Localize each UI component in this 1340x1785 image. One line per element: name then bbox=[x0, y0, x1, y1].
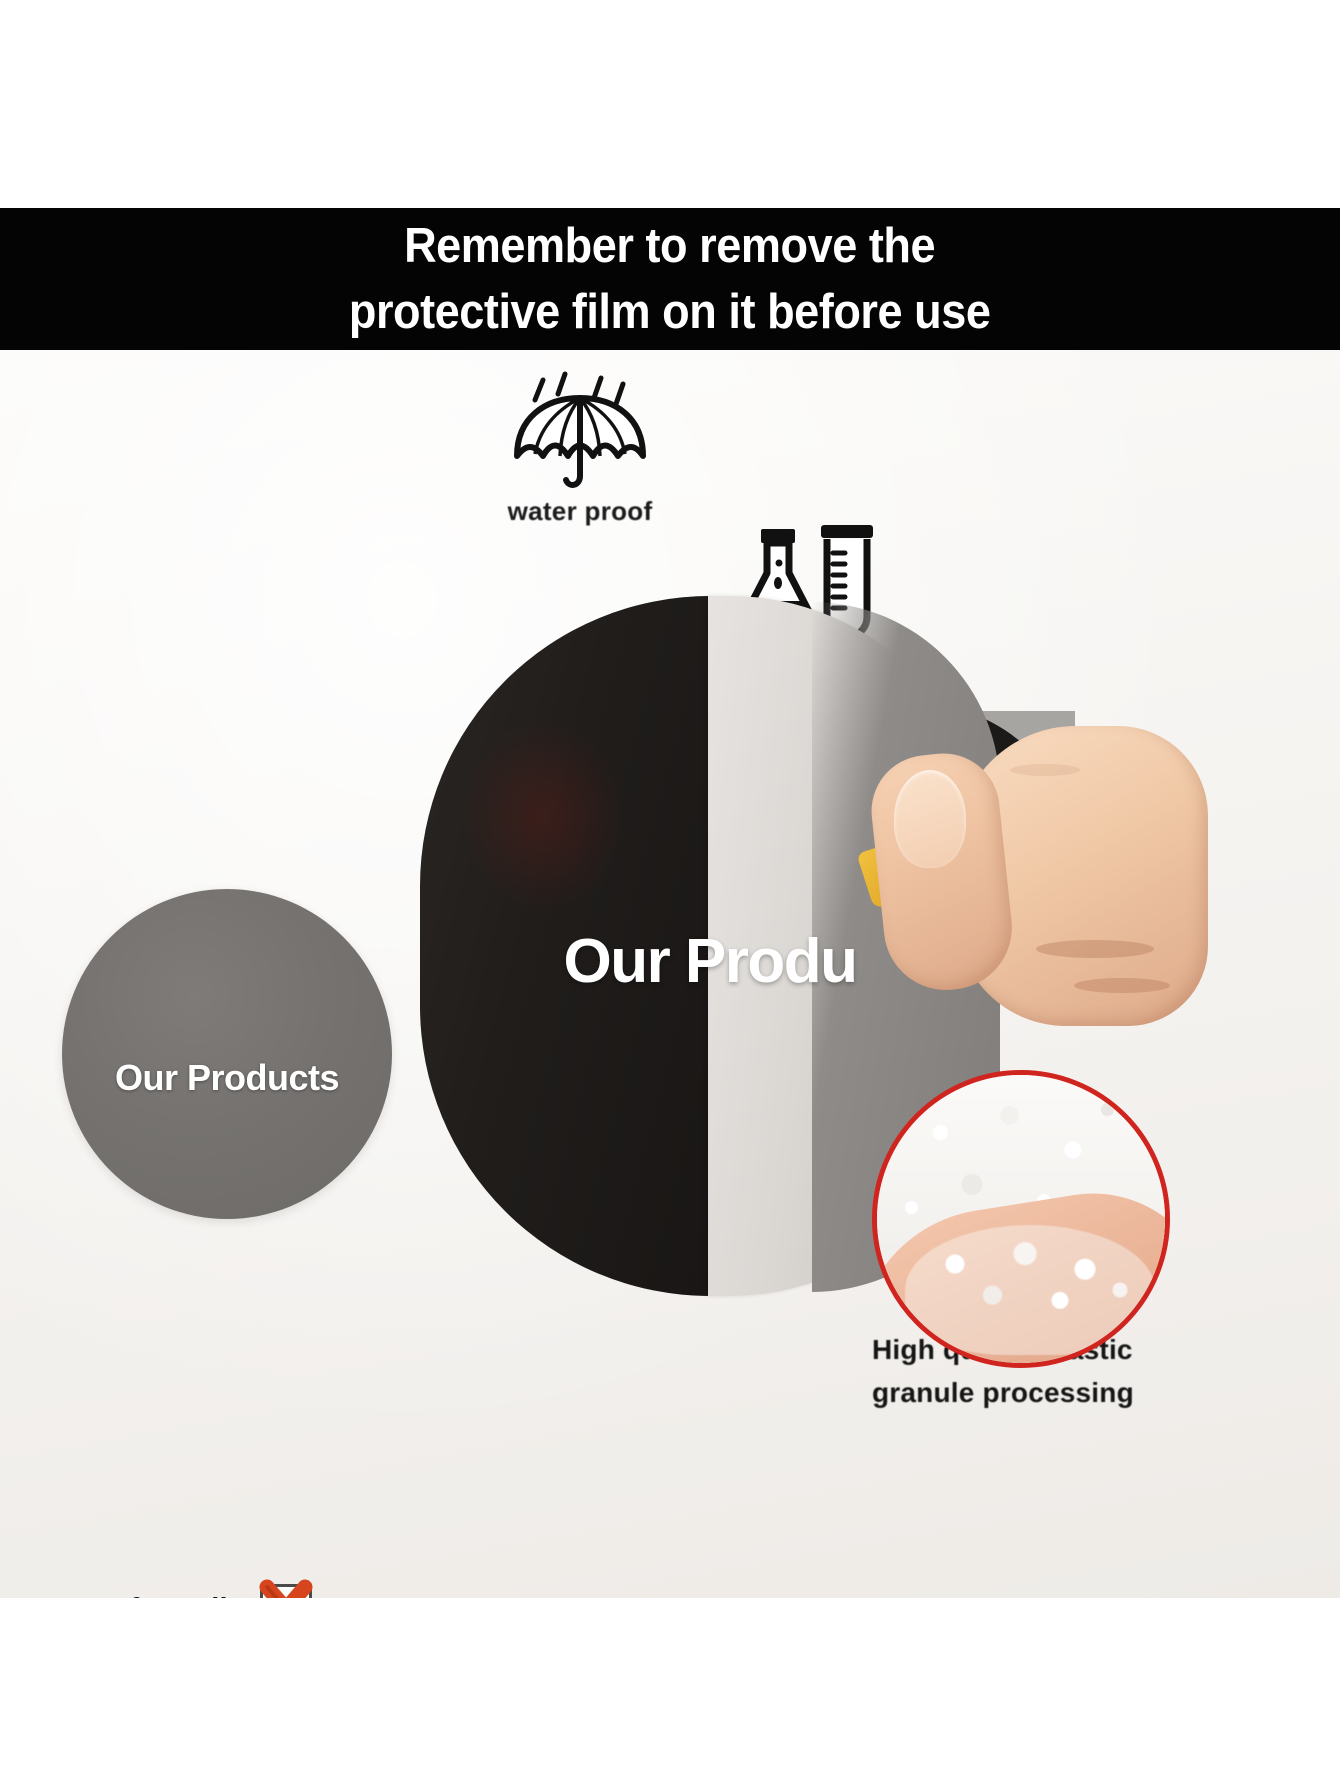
granule-pile bbox=[905, 1225, 1155, 1355]
sample-circle-before-film: Our Products bbox=[62, 889, 392, 1219]
finger-crease bbox=[1010, 764, 1080, 776]
status-before-film: Before Film bbox=[92, 1584, 1340, 1598]
top-white-margin bbox=[0, 0, 1340, 208]
status-before-film-label: Before Film bbox=[92, 1593, 254, 1599]
finger-crease bbox=[1074, 978, 1170, 993]
headline-line-2: protective film on it before use bbox=[349, 279, 991, 345]
before-film-markbox bbox=[260, 1584, 312, 1598]
headline-banner: Remember to remove the protective film o… bbox=[0, 208, 1340, 350]
sample-circle-before-label: Our Products bbox=[115, 1057, 339, 1099]
hand-peeling-film bbox=[860, 726, 1210, 1066]
feature-waterproof-caption: water proof bbox=[460, 498, 700, 525]
product-photo-panel: water proof bbox=[0, 350, 1340, 1598]
fingernail bbox=[894, 770, 966, 868]
feature-waterproof: water proof bbox=[460, 370, 700, 525]
finger-crease bbox=[1036, 940, 1154, 958]
granule-inset-photo bbox=[872, 1070, 1170, 1368]
granule-caption-line-2: granule processing bbox=[872, 1371, 1172, 1414]
bottom-white-margin bbox=[0, 1598, 1340, 1785]
red-x-icon bbox=[254, 1573, 318, 1598]
headline-line-1: Remember to remove the bbox=[404, 213, 935, 279]
umbrella-rain-icon bbox=[460, 370, 700, 490]
product-infographic-image: Remember to remove the protective film o… bbox=[0, 0, 1340, 1785]
